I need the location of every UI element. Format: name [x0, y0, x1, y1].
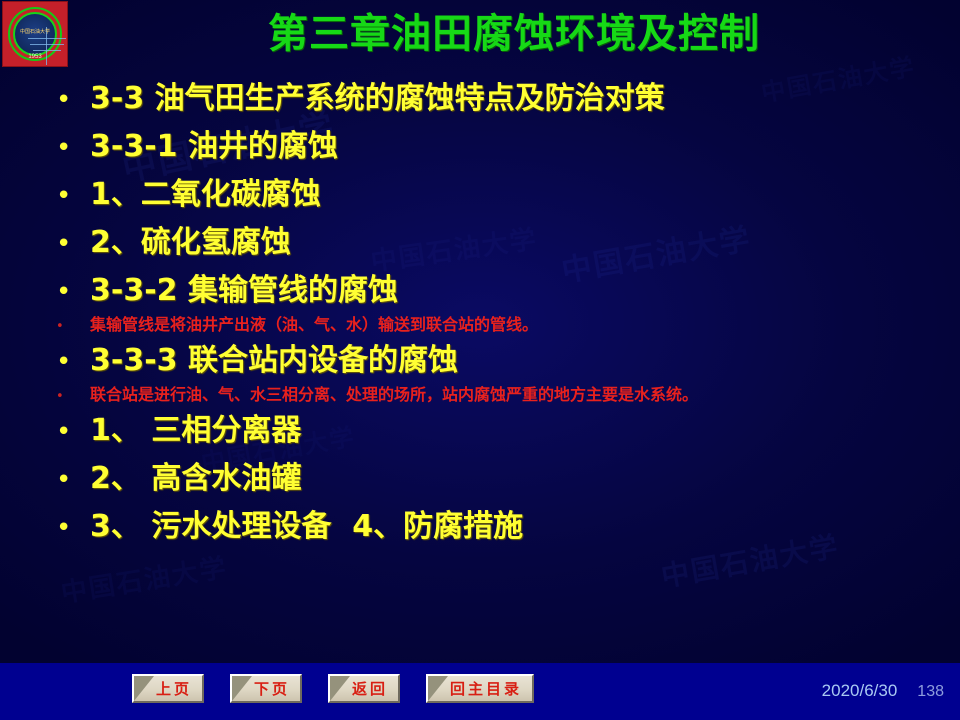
bullet-item-level1: •1、二氧化碳腐蚀: [0, 172, 960, 218]
bullet-text: 3-3-1 油井的腐蚀: [90, 124, 960, 170]
button-corner-triangle-icon: [232, 676, 252, 701]
slide-header: 中国石油大学 1953 第三章油田腐蚀环境及控制: [0, 0, 960, 72]
university-logo: 中国石油大学 1953: [2, 1, 68, 67]
bullet-text: 集输管线是将油井产出液（油、气、水）输送到联合站的管线。: [90, 314, 810, 336]
button-corner-triangle-icon: [134, 676, 154, 701]
bullet-marker-icon: •: [56, 87, 90, 113]
logo-inner-text: 中国石油大学: [3, 30, 67, 36]
bullet-text: 2、 高含水油罐: [90, 456, 960, 502]
bullet-item-level1: •3-3-3 联合站内设备的腐蚀: [0, 338, 960, 384]
footer-stamp: 2020/6/30 138: [822, 681, 944, 701]
bullet-item-level1: •3-3-2 集输管线的腐蚀: [0, 268, 960, 314]
main-menu-button[interactable]: 回主目录: [426, 674, 534, 703]
bullet-text: 2、硫化氢腐蚀: [90, 220, 960, 266]
bullet-marker-icon: •: [56, 231, 90, 257]
bullet-marker-icon: •: [56, 135, 90, 161]
button-corner-triangle-icon: [428, 676, 448, 701]
prev-page-button[interactable]: 上页: [132, 674, 204, 703]
bullet-marker-icon: •: [56, 349, 90, 375]
button-label: 回主目录: [450, 678, 522, 699]
bullet-item-level2: •集输管线是将油井产出液（油、气、水）输送到联合站的管线。: [0, 314, 960, 336]
bullet-marker-icon: •: [56, 279, 90, 305]
back-button[interactable]: 返回: [328, 674, 400, 703]
bullet-text: 1、 三相分离器: [90, 408, 960, 454]
globe-parallel-icon: [33, 50, 61, 51]
bullet-item-level1: •3、 污水处理设备 4、防腐措施: [0, 504, 960, 550]
slide-footer: 上页下页返回回主目录 2020/6/30 138: [0, 663, 960, 720]
bullet-text: 3-3-3 联合站内设备的腐蚀: [90, 338, 960, 384]
bullet-item-level1: •3-3-1 油井的腐蚀: [0, 124, 960, 170]
globe-parallel-icon: [30, 44, 64, 45]
bullet-item-level1: •3-3 油气田生产系统的腐蚀特点及防治对策: [0, 76, 960, 122]
slide: 中国石油大学 中国石油大学 中国石油大学 中国石油大学 中国石油大学 中国石油大…: [0, 0, 960, 720]
next-page-button[interactable]: 下页: [230, 674, 302, 703]
bullet-item-level1: •1、 三相分离器: [0, 408, 960, 454]
bullet-text: 1、二氧化碳腐蚀: [90, 172, 960, 218]
button-label: 返回: [352, 678, 388, 699]
bullet-item-level2: •联合站是进行油、气、水三相分离、处理的场所，站内腐蚀严重的地方主要是水系统。: [0, 384, 960, 406]
slide-content: •3-3 油气田生产系统的腐蚀特点及防治对策•3-3-1 油井的腐蚀•1、二氧化…: [0, 76, 960, 552]
bullet-marker-icon: •: [56, 183, 90, 209]
bullet-marker-icon: •: [56, 390, 90, 403]
button-label: 下页: [254, 678, 290, 699]
bullet-marker-icon: •: [56, 515, 90, 541]
bullet-text: 3-3 油气田生产系统的腐蚀特点及防治对策: [90, 76, 960, 122]
bullet-text: 联合站是进行油、气、水三相分离、处理的场所，站内腐蚀严重的地方主要是水系统。: [90, 384, 810, 406]
logo-year: 1953: [3, 54, 67, 60]
bullet-marker-icon: •: [56, 467, 90, 493]
button-corner-triangle-icon: [330, 676, 350, 701]
bullet-text: 3-3-2 集输管线的腐蚀: [90, 268, 960, 314]
page-title: 第三章油田腐蚀环境及控制: [68, 8, 960, 60]
bullet-marker-icon: •: [56, 419, 90, 445]
bullet-item-level1: •2、硫化氢腐蚀: [0, 220, 960, 266]
slide-date: 2020/6/30: [822, 681, 898, 701]
bullet-marker-icon: •: [56, 320, 90, 333]
globe-parallel-icon: [28, 38, 66, 39]
bullet-text: 3、 污水处理设备 4、防腐措施: [90, 504, 960, 550]
navigation-bar: 上页下页返回回主目录: [132, 674, 534, 703]
watermark-text: 中国石油大学: [58, 547, 230, 610]
slide-page-number: 138: [917, 683, 944, 701]
bullet-item-level1: •2、 高含水油罐: [0, 456, 960, 502]
button-label: 上页: [156, 678, 192, 699]
